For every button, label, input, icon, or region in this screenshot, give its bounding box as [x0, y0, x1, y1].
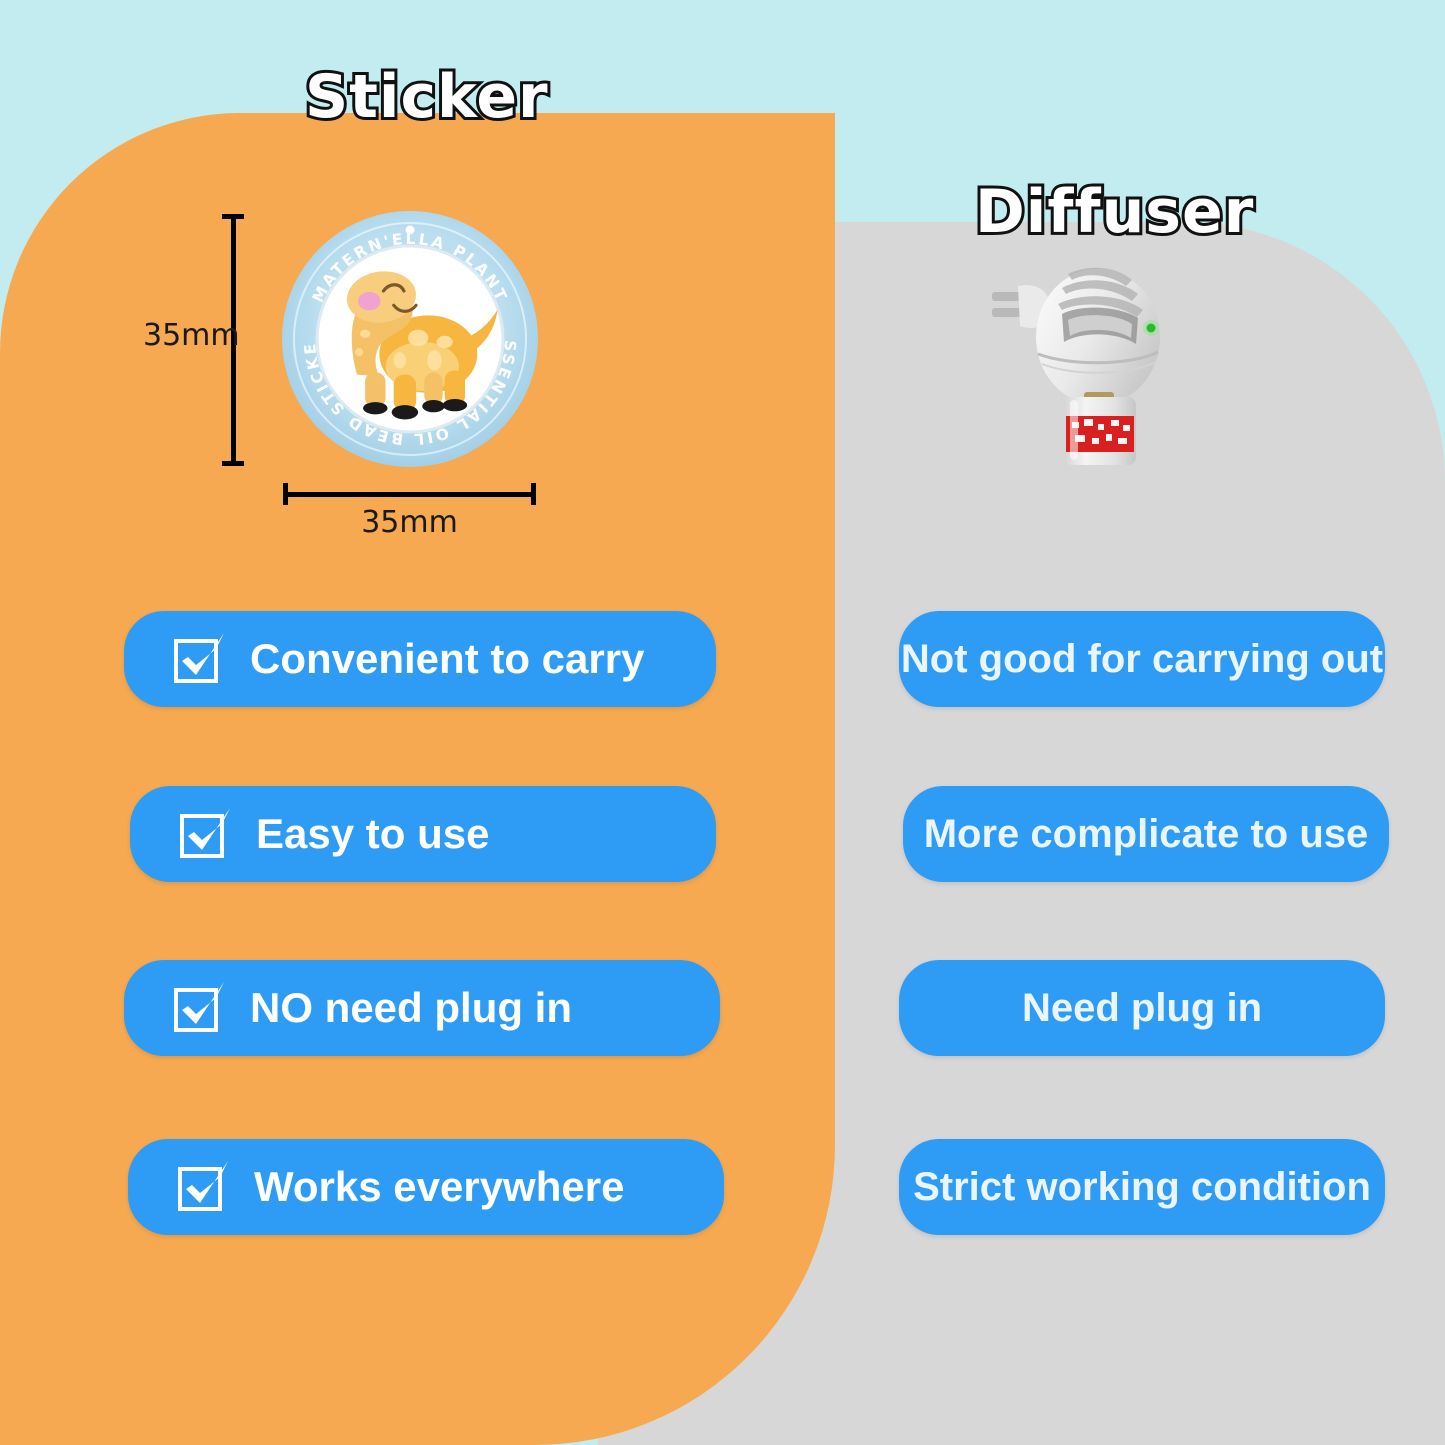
feature-label: Not good for carrying out: [901, 637, 1383, 682]
diffuser-product-image: [980, 252, 1195, 467]
feature-pill-right[interactable]: Not good for carrying out: [899, 611, 1385, 707]
feature-pill-left[interactable]: Works everywhere: [128, 1139, 724, 1235]
checkbox-checked-icon: [178, 806, 234, 862]
sticker-height-label: 35mm: [143, 318, 240, 353]
feature-label: Works everywhere: [254, 1163, 624, 1211]
feature-pill-right[interactable]: Strict working condition: [899, 1139, 1385, 1235]
feature-label: More complicate to use: [924, 812, 1369, 857]
sticker-product-image: MATERN'ELLA PLANT ESSENTIAL OIL BEAD STI…: [281, 210, 539, 468]
checkbox-checked-icon: [176, 1159, 232, 1215]
feature-label: Easy to use: [256, 810, 489, 858]
feature-pill-right[interactable]: Need plug in: [899, 960, 1385, 1056]
checkbox-checked-icon: [172, 631, 228, 687]
feature-label: Convenient to carry: [250, 635, 644, 683]
sticker-width-dimension-line: [283, 483, 536, 505]
feature-pill-left[interactable]: Easy to use: [130, 786, 716, 882]
sticker-heading: Sticker: [305, 62, 549, 132]
feature-pill-right[interactable]: More complicate to use: [903, 786, 1389, 882]
feature-label: Need plug in: [1022, 986, 1262, 1031]
feature-label: Strict working condition: [913, 1165, 1371, 1210]
comparison-infographic: Sticker Diffuser MATERN'ELLA PLANT: [0, 0, 1445, 1445]
feature-label: NO need plug in: [250, 984, 572, 1032]
sticker-width-label: 35mm: [283, 505, 536, 540]
feature-pill-left[interactable]: NO need plug in: [124, 960, 720, 1056]
feature-pill-left[interactable]: Convenient to carry: [124, 611, 716, 707]
checkbox-checked-icon: [172, 980, 228, 1036]
diffuser-heading: Diffuser: [975, 177, 1254, 247]
